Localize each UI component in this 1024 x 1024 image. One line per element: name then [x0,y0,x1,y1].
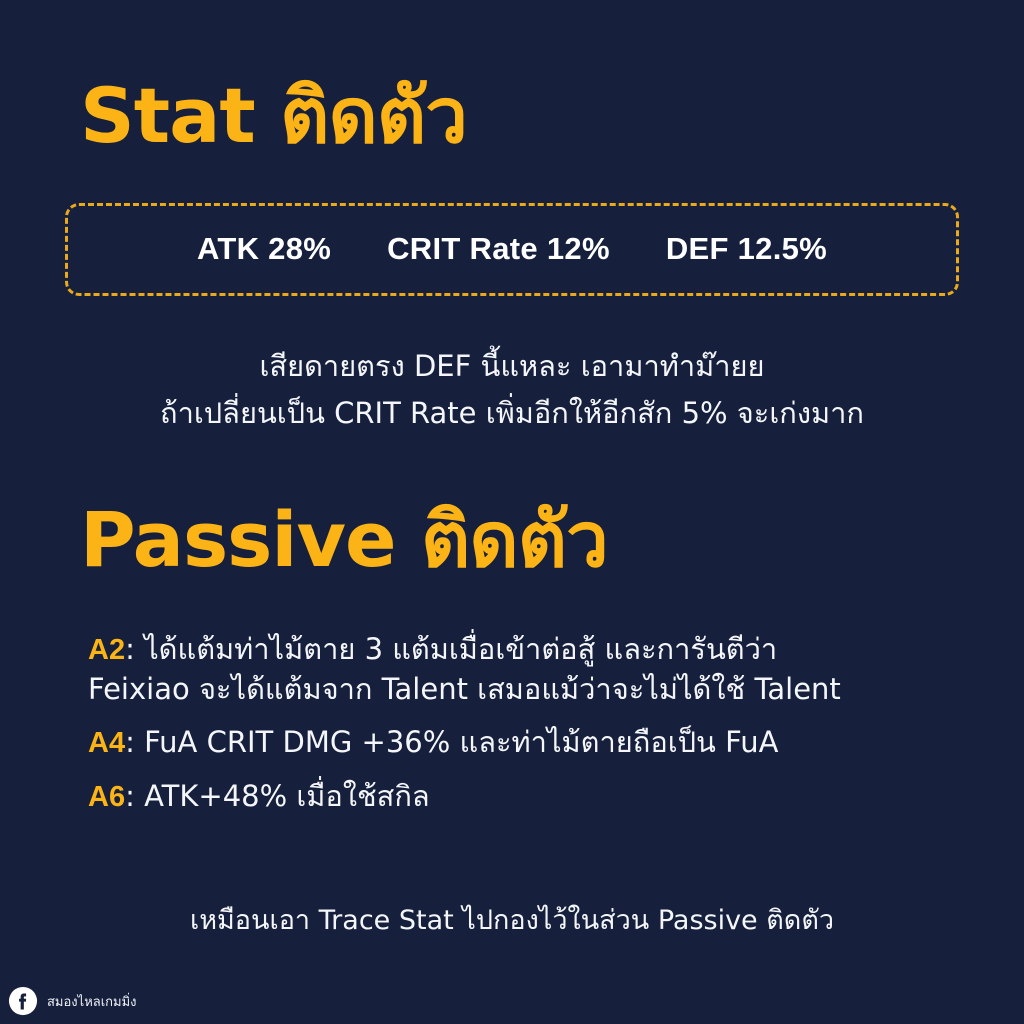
passive-list: A2: ได้แต้มท่าไม้ตาย 3 แต้มเมื่อเข้าต่อส… [88,630,968,832]
stat-summary-box: ATK 28% CRIT Rate 12% DEF 12.5% [65,203,959,296]
passive-entry-a4-line-1: A4: FuA CRIT DMG +36% และท่าไม้ตายถือเป็… [88,723,968,763]
stat-commentary-line-2: ถ้าเปลี่ยนเป็น CRIT Rate เพิ่มอีกให้อีกส… [0,390,1024,437]
passive-separator-a2: : [125,632,135,666]
passive-label-a6: A6 [88,781,125,813]
poster-canvas: Stat ติดตัว ATK 28% CRIT Rate 12% DEF 12… [0,0,1024,1024]
stat-item-def: DEF 12.5% [666,231,827,267]
passive-text-a2-1: ได้แต้มท่าไม้ตาย 3 แต้มเมื่อเข้าต่อสู้ แ… [144,632,777,666]
watermark-label: สมองไหลเกมมิ่ง [47,991,137,1012]
stat-item-atk: ATK 28% [197,231,331,267]
passive-separator-a6: : [125,779,135,813]
passive-text-a2-2: Feixiao จะได้แต้มจาก Talent เสมอแม้ว่าจะ… [88,670,968,709]
passive-label-a4: A4 [88,727,125,759]
stat-commentary-line-1: เสียดายตรง DEF นี้แหละ เอามาทำม๊ายย [0,343,1024,390]
passive-separator-a4: : [125,725,135,759]
passive-entry-a4: A4: FuA CRIT DMG +36% และท่าไม้ตายถือเป็… [88,723,968,763]
stat-commentary: เสียดายตรง DEF นี้แหละ เอามาทำม๊ายย ถ้าเ… [0,343,1024,437]
passive-text-a4-1: FuA CRIT DMG +36% และท่าไม้ตายถือเป็น Fu… [144,725,778,759]
stat-item-crit-rate: CRIT Rate 12% [387,231,610,267]
stat-list: ATK 28% CRIT Rate 12% DEF 12.5% [197,231,827,269]
facebook-icon [8,986,38,1016]
footer-note: เหมือนเอา Trace Stat ไปกองไว้ในส่วน Pass… [0,898,1024,941]
passive-entry-a6-line-1: A6: ATK+48% เมื่อใช้สกิล [88,777,968,817]
passive-text-a6-1: ATK+48% เมื่อใช้สกิล [144,779,430,813]
page-title-stat: Stat ติดตัว [80,78,467,154]
passive-label-a2: A2 [88,634,125,666]
passive-entry-a2-line-1: A2: ได้แต้มท่าไม้ตาย 3 แต้มเมื่อเข้าต่อส… [88,630,968,670]
page-title-passive: Passive ติดตัว [80,502,608,578]
watermark: สมองไหลเกมมิ่ง [8,986,137,1016]
passive-entry-a2: A2: ได้แต้มท่าไม้ตาย 3 แต้มเมื่อเข้าต่อส… [88,630,968,709]
passive-entry-a6: A6: ATK+48% เมื่อใช้สกิล [88,777,968,817]
